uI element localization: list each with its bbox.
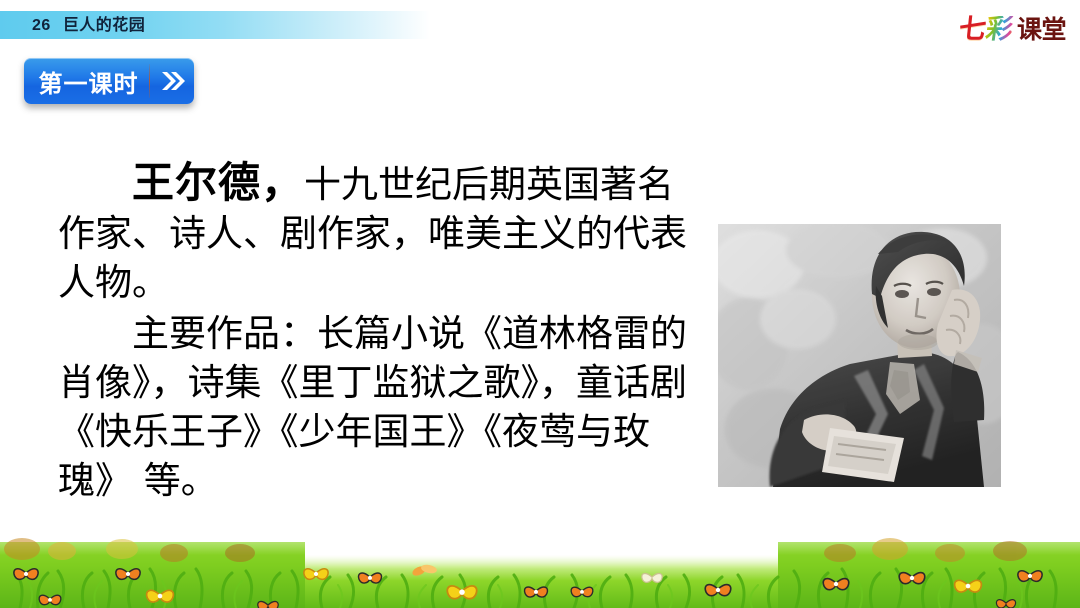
lesson-title: 巨人的花园 — [63, 15, 146, 34]
paragraph-major-works: 主要作品：长篇小说《道林格雷的肖像》，诗集《里丁监狱之歌》，童话剧《快乐王子》《… — [58, 309, 698, 505]
page-title: 26巨人的花园 — [32, 12, 145, 38]
author-name: 王尔德， — [132, 158, 304, 207]
brand-logo: 七 彩 课堂 — [959, 11, 1066, 47]
content-text-block: 王尔德，十九世纪后期英国著名作家、诗人、剧作家，唯美主义的代表人物。 主要作品：… — [58, 158, 698, 505]
brand-logo-char-cai: 彩 — [984, 16, 1014, 43]
grass-border-decoration — [0, 533, 1080, 608]
slide-canvas: 26巨人的花园 七 彩 课堂 第一课时 王尔德，十九世纪后期英国著名作家、诗人、… — [0, 0, 1080, 608]
lesson-number: 26 — [32, 17, 51, 34]
brand-logo-char-qi: 七 — [958, 16, 987, 43]
oscar-wilde-portrait — [718, 224, 1001, 487]
lesson-period-button-label: 第一课时 — [24, 64, 149, 99]
double-chevron-right-icon — [150, 69, 194, 93]
brand-logo-text-ketang: 课堂 — [1017, 17, 1066, 42]
lesson-period-button[interactable]: 第一课时 — [24, 58, 194, 104]
paragraph-author-bio: 王尔德，十九世纪后期英国著名作家、诗人、剧作家，唯美主义的代表人物。 — [58, 158, 698, 307]
